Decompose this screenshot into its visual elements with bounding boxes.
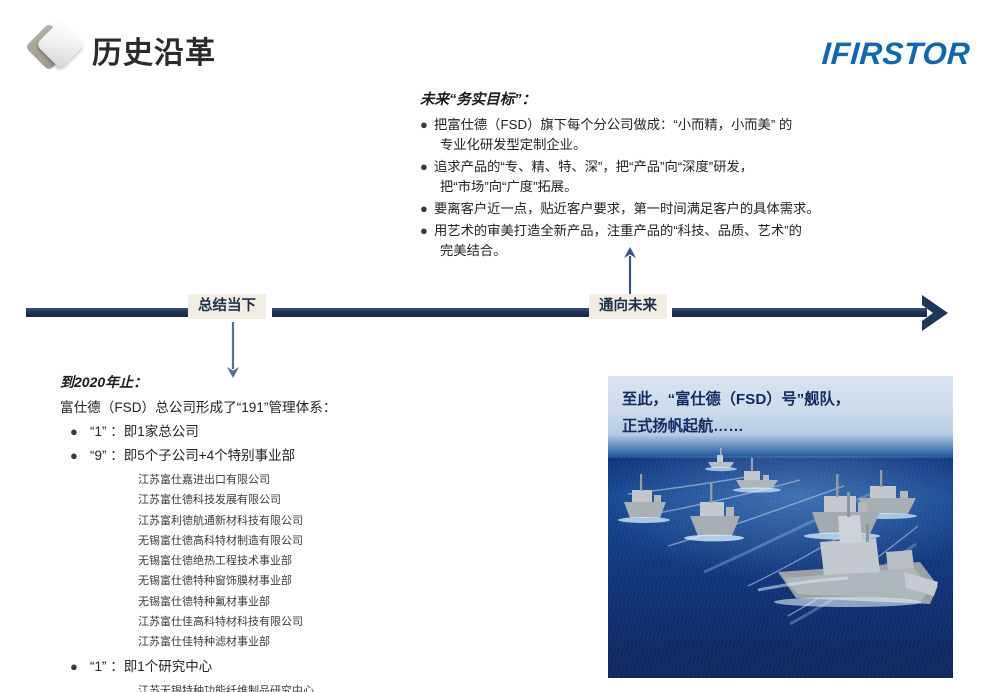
goal-item-text: 追求产品的“专、精、特、深”，把“产品”向“深度”研发， 把“市场”向“广度”拓…	[434, 157, 870, 197]
timeline-label-present[interactable]: 总结当下	[188, 294, 266, 319]
goal-item-text: 把富仕德（FSD）旗下每个分公司做成：“小而精，小而美” 的 专业化研发型定制企…	[434, 115, 870, 155]
arrow-right-icon	[918, 293, 962, 333]
goal-line-1: 把富仕德（FSD）旗下每个分公司做成：“小而精，小而美” 的	[434, 117, 792, 132]
bullet-icon: ●	[70, 657, 90, 676]
bullet-icon: ●	[420, 157, 434, 177]
history-subheading: 富仕德（FSD）总公司形成了“191”管理体系：	[60, 396, 410, 416]
future-goals-block: 未来“务实目标”： ● 把富仕德（FSD）旗下每个分公司做成：“小而精，小而美”…	[420, 88, 870, 263]
list-item: 江苏无锡特种功能纤维制品研究中心	[138, 681, 410, 692]
goal-line-2: 把“市场”向“广度”拓展。	[434, 177, 870, 197]
goal-line-2: 专业化研发型定制企业。	[434, 135, 870, 155]
ship-left-1	[618, 474, 670, 523]
history-group-row: ● “1” ：即1家总公司	[60, 422, 410, 441]
goal-item-text: 用艺术的审美打造全新产品，注重产品的“科技、品质、艺术”的 完美结合。	[434, 221, 870, 261]
list-item: 江苏富利德航通新材科技有限公司	[138, 511, 410, 531]
history-heading: 到2020年止：	[60, 372, 410, 392]
bullet-icon: ●	[420, 115, 434, 135]
slide-canvas: 历史沿革 IFIRSTOR 未来“务实目标”： ● 把富仕德（FSD）旗下每个分…	[0, 0, 1000, 692]
history-group-label: “9” ：即5个子公司+4个特别事业部	[90, 446, 410, 465]
bullet-icon: ●	[70, 422, 90, 441]
history-group-label: “1” ：即1个研究中心	[90, 657, 410, 676]
timeline: 总结当下 通向未来	[0, 300, 1000, 340]
timeline-segment-middle	[272, 308, 589, 317]
goal-line-1: 用艺术的审美打造全新产品，注重产品的“科技、品质、艺术”的	[434, 223, 802, 238]
list-item: 无锡富仕德特种窗饰膜材事业部	[138, 571, 410, 591]
list-item: 无锡富仕德特种氟材事业部	[138, 592, 410, 612]
brand-logo: IFIRSTOR	[821, 36, 972, 72]
goal-item: ● 用艺术的审美打造全新产品，注重产品的“科技、品质、艺术”的 完美结合。	[420, 221, 870, 261]
photo-caption-line-2: 正式扬帆起航……	[622, 413, 850, 440]
list-item: 江苏富仕佳高科特材科技有限公司	[138, 612, 410, 632]
future-goals-heading: 未来“务实目标”：	[420, 88, 870, 109]
list-item: 无锡富仕德绝热工程技术事业部	[138, 551, 410, 571]
goal-line-1: 要离客户近一点，贴近客户要求，第一时间满足客户的具体需求。	[434, 201, 820, 216]
goal-line-2: 完美结合。	[434, 241, 870, 261]
subsidiary-list: 江苏富仕嘉进出口有限公司 江苏富仕德科技发展有限公司 江苏富利德航通新材科技有限…	[60, 470, 410, 653]
list-item: 无锡富仕德高科特材制造有限公司	[138, 531, 410, 551]
photo-caption: 至此，“富仕德（FSD）号”舰队， 正式扬帆起航……	[622, 386, 850, 440]
goal-item: ● 追求产品的“专、精、特、深”，把“产品”向“深度”研发， 把“市场”向“广度…	[420, 157, 870, 197]
timeline-segment-left	[26, 308, 189, 317]
goal-item: ● 要离客户近一点，贴近客户要求，第一时间满足客户的具体需求。	[420, 199, 870, 219]
diamond-logo-icon	[30, 24, 86, 76]
bullet-icon: ●	[420, 221, 434, 241]
timeline-label-future[interactable]: 通向未来	[589, 294, 667, 319]
page-title: 历史沿革	[92, 28, 216, 72]
history-group-label: “1” ：即1家总公司	[90, 422, 410, 441]
history-block: 到2020年止： 富仕德（FSD）总公司形成了“191”管理体系： ● “1” …	[60, 372, 410, 692]
goal-line-1: 追求产品的“专、精、特、深”，把“产品”向“深度”研发，	[434, 159, 753, 174]
timeline-segment-right	[672, 308, 927, 317]
goal-item: ● 把富仕德（FSD）旗下每个分公司做成：“小而精，小而美” 的 专业化研发型定…	[420, 115, 870, 155]
photo-caption-line-1: 至此，“富仕德（FSD）号”舰队，	[622, 386, 850, 413]
list-item: 江苏富仕佳特种滤材事业部	[138, 632, 410, 652]
ship-foreground-destroyer	[758, 492, 938, 607]
goal-item-text: 要离客户近一点，贴近客户要求，第一时间满足客户的具体需求。	[434, 199, 870, 219]
naval-fleet-photo: 至此，“富仕德（FSD）号”舰队， 正式扬帆起航……	[608, 376, 953, 678]
ship-far-1	[705, 448, 737, 471]
research-center-list: 江苏无锡特种功能纤维制品研究中心	[60, 681, 410, 692]
history-group-row: ● “9” ：即5个子公司+4个特别事业部	[60, 446, 410, 465]
list-item: 江苏富仕德科技发展有限公司	[138, 490, 410, 510]
bullet-icon: ●	[420, 199, 434, 219]
bullet-icon: ●	[70, 446, 90, 465]
history-group-row: ● “1” ：即1个研究中心	[60, 657, 410, 676]
list-item: 江苏富仕嘉进出口有限公司	[138, 470, 410, 490]
